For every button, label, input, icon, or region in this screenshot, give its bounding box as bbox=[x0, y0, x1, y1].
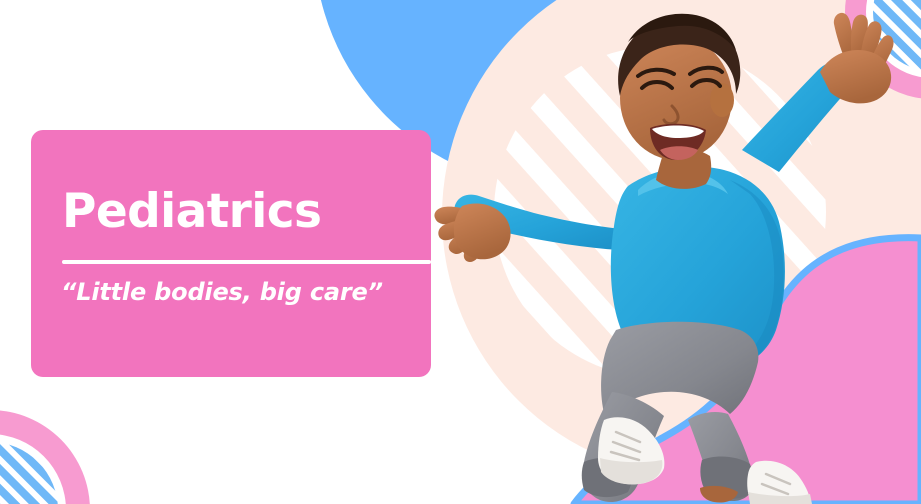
tagline: “Little bodies, big care” bbox=[61, 278, 383, 307]
pediatrics-info-card: Pediatrics “Little bodies, big care” bbox=[31, 130, 431, 377]
pediatrics-banner: Pediatrics “Little bodies, big care” bbox=[0, 0, 921, 504]
title-divider bbox=[62, 260, 431, 264]
page-title: Pediatrics bbox=[62, 188, 321, 235]
